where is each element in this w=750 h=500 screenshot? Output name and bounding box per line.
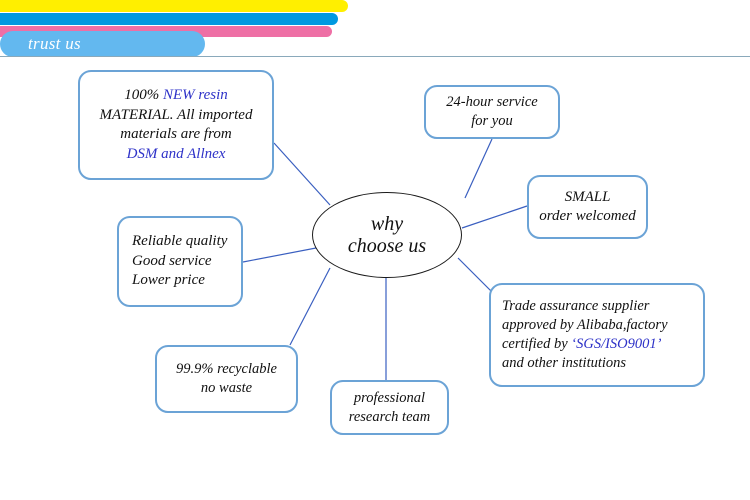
node-new-resin-material: 100% NEW resinMATERIAL. All importedmate… xyxy=(78,70,274,180)
node-reliable-quality: Reliable qualityGood serviceLower price xyxy=(117,216,243,307)
text-plain: research team xyxy=(349,409,430,425)
center-node-why-choose-us: why choose us xyxy=(312,192,462,278)
text-plain: 24-hour service xyxy=(446,94,537,110)
text-plain: approved by Alibaba,factory xyxy=(502,317,668,333)
text-plain: 100% xyxy=(124,87,163,103)
text-line: Good service xyxy=(132,252,241,272)
text-line: no waste xyxy=(157,379,296,398)
connector-service xyxy=(465,139,492,198)
text-line: 99.9% recyclable xyxy=(157,360,296,379)
text-line: certified by ‘SGS/ISO9001’ xyxy=(502,335,703,354)
connector-quality xyxy=(243,248,316,262)
text-highlight: ‘SGS/ISO9001’ xyxy=(571,336,661,352)
text-line: SMALL xyxy=(529,188,646,208)
connector-small xyxy=(462,206,527,228)
text-plain: for you xyxy=(471,113,512,129)
text-line: research team xyxy=(332,408,447,427)
text-plain: Trade assurance supplier xyxy=(502,298,649,314)
text-plain: MATERIAL. All imported xyxy=(100,107,253,123)
node-research-team: professionalresearch team xyxy=(330,380,449,435)
connector-recycle xyxy=(290,268,330,345)
text-line: 24-hour service xyxy=(426,93,558,112)
infographic-canvas: trust us why choose us 100% NEW resinMAT… xyxy=(0,0,750,500)
text-line: DSM and Allnex xyxy=(80,145,272,165)
text-plain: certified by xyxy=(502,336,571,352)
text-plain: 99.9% recyclable xyxy=(176,361,277,377)
center-line-2: choose us xyxy=(348,235,426,257)
text-line: for you xyxy=(426,112,558,131)
text-line: and other institutions xyxy=(502,354,703,373)
node-small-order: SMALLorder welcomed xyxy=(527,175,648,239)
node-trade-assurance: Trade assurance supplierapproved by Alib… xyxy=(489,283,705,387)
text-line: professional xyxy=(332,389,447,408)
text-plain: order welcomed xyxy=(539,208,636,224)
text-line: approved by Alibaba,factory xyxy=(502,316,703,335)
text-plain: SMALL xyxy=(565,189,611,205)
text-plain: Reliable quality xyxy=(132,233,227,249)
text-plain: no waste xyxy=(201,380,252,396)
text-highlight: NEW resin xyxy=(163,87,228,103)
text-plain: Lower price xyxy=(132,272,205,288)
text-plain: professional xyxy=(354,390,425,406)
text-plain: materials are from xyxy=(120,126,231,142)
center-line-1: why xyxy=(371,213,403,235)
text-highlight: DSM and Allnex xyxy=(127,146,226,162)
node-recyclable-no-waste: 99.9% recyclableno waste xyxy=(155,345,298,413)
text-line: MATERIAL. All imported xyxy=(80,106,272,126)
node-24-hour-service: 24-hour servicefor you xyxy=(424,85,560,139)
text-line: Trade assurance supplier xyxy=(502,297,703,316)
text-line: Reliable quality xyxy=(132,232,241,252)
text-line: Lower price xyxy=(132,271,241,291)
text-line: 100% NEW resin xyxy=(80,86,272,106)
text-plain: Good service xyxy=(132,253,212,269)
connector-resin xyxy=(274,143,330,205)
text-line: order welcomed xyxy=(529,207,646,227)
text-line: materials are from xyxy=(80,125,272,145)
text-plain: and other institutions xyxy=(502,355,626,371)
